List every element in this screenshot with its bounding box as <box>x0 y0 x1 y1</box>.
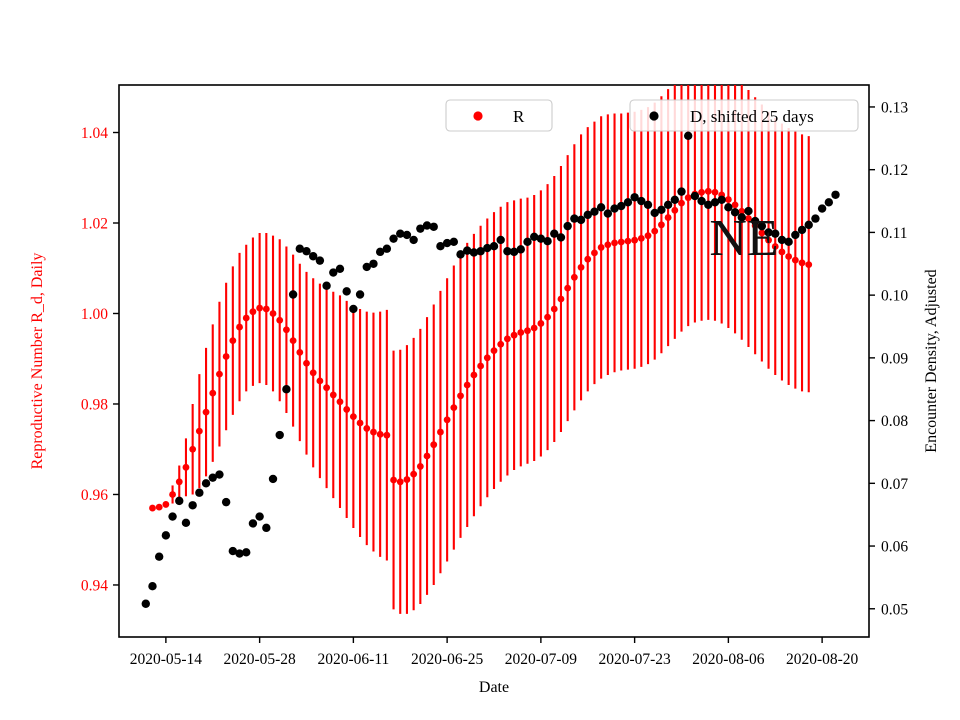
r-data-point <box>169 491 176 498</box>
r-data-point <box>337 398 344 405</box>
r-data-point <box>524 327 531 334</box>
x-tick-label: 2020-05-28 <box>223 651 296 668</box>
d-data-point <box>168 512 176 520</box>
r-data-point <box>303 360 310 367</box>
d-data-point <box>182 519 190 527</box>
d-data-point <box>577 216 585 224</box>
d-data-point <box>791 231 799 239</box>
d-data-point <box>684 132 692 140</box>
figure-canvas: 2020-05-142020-05-282020-06-112020-06-25… <box>0 0 960 720</box>
y-right-tick-label: 0.06 <box>881 539 908 556</box>
r-data-point <box>625 238 632 245</box>
d-data-point <box>517 245 525 253</box>
d-data-point <box>717 196 725 204</box>
r-data-point <box>377 431 384 438</box>
legend-r-box <box>446 100 552 131</box>
y-right-tick-label: 0.11 <box>881 225 908 242</box>
d-data-point <box>188 501 196 509</box>
r-data-point <box>290 337 297 344</box>
r-data-point <box>484 354 491 361</box>
r-data-point <box>397 478 404 485</box>
d-data-point <box>664 201 672 209</box>
r-data-point <box>511 332 518 339</box>
d-data-point <box>255 512 263 520</box>
r-data-point <box>209 390 216 397</box>
r-data-point <box>183 464 190 471</box>
r-data-point <box>189 446 196 453</box>
r-data-point <box>591 249 598 256</box>
r-data-point <box>698 189 705 196</box>
d-data-point <box>677 187 685 195</box>
d-data-point <box>805 221 813 229</box>
y-right-tick-label: 0.05 <box>881 601 908 618</box>
r-data-point <box>658 221 665 228</box>
y-right-tick-label: 0.12 <box>881 162 908 179</box>
y-axis-left-title: Reproductive Number R_d, Daily <box>29 253 46 470</box>
d-data-point <box>597 203 605 211</box>
r-data-point <box>732 202 739 209</box>
r-data-point <box>504 335 511 342</box>
legend-r-label: R <box>513 107 525 126</box>
d-data-point <box>403 231 411 239</box>
r-data-point <box>404 476 411 483</box>
d-data-point <box>175 497 183 505</box>
d-data-point <box>215 470 223 478</box>
r-data-point <box>578 264 585 271</box>
r-data-point <box>678 200 685 207</box>
d-data-point <box>691 192 699 200</box>
r-data-point <box>424 453 431 460</box>
d-data-point <box>262 524 270 532</box>
d-data-point <box>148 582 156 590</box>
r-data-point <box>558 296 565 303</box>
d-data-point <box>563 222 571 230</box>
chart-svg: 2020-05-142020-05-282020-06-112020-06-25… <box>0 0 960 720</box>
x-tick-label: 2020-05-14 <box>130 651 203 668</box>
r-data-point <box>544 314 551 321</box>
r-data-point <box>156 504 163 511</box>
y-left-tick-label: 0.94 <box>81 577 108 594</box>
d-data-point <box>242 548 250 556</box>
r-data-point <box>176 478 183 485</box>
d-data-point <box>496 236 504 244</box>
d-data-point <box>142 600 150 608</box>
d-data-point <box>825 198 833 206</box>
r-data-point <box>216 371 223 378</box>
r-data-point <box>517 329 524 336</box>
d-data-point <box>356 290 364 298</box>
r-data-point <box>196 428 203 435</box>
d-data-point <box>811 214 819 222</box>
r-data-point <box>390 477 397 484</box>
d-data-point <box>349 305 357 313</box>
d-data-point <box>195 489 203 497</box>
d-data-point <box>389 234 397 242</box>
r-data-point <box>250 308 257 315</box>
r-data-point <box>149 505 156 512</box>
legend-d-label: D, shifted 25 days <box>690 107 814 126</box>
d-data-point <box>644 201 652 209</box>
r-data-point <box>430 441 437 448</box>
r-data-point <box>410 471 417 478</box>
d-data-point <box>831 191 839 199</box>
r-data-point <box>350 413 357 420</box>
d-data-point <box>276 431 284 439</box>
d-data-point <box>409 236 417 244</box>
y-left-tick-label: 0.96 <box>81 487 108 504</box>
r-data-point <box>370 429 377 436</box>
r-data-point <box>223 353 230 360</box>
r-data-point <box>343 406 350 413</box>
d-data-point <box>249 519 257 527</box>
d-data-point <box>624 198 632 206</box>
r-data-point <box>785 253 792 260</box>
r-data-point <box>477 363 484 370</box>
r-data-point <box>779 249 786 256</box>
x-tick-label: 2020-07-23 <box>598 651 671 668</box>
r-data-point <box>471 372 478 379</box>
r-data-point <box>725 196 732 203</box>
d-data-point <box>543 237 551 245</box>
d-data-point <box>604 209 612 217</box>
r-data-point <box>283 326 290 333</box>
r-data-point <box>584 256 591 263</box>
d-data-point <box>430 223 438 231</box>
d-data-point <box>222 498 230 506</box>
r-data-point <box>383 432 390 439</box>
y-left-tick-label: 1.04 <box>81 125 108 142</box>
r-data-point <box>491 347 498 354</box>
r-data-point <box>229 337 236 344</box>
y-right-tick-label: 0.09 <box>881 350 908 367</box>
r-data-point <box>363 425 370 432</box>
d-data-point <box>818 204 826 212</box>
r-data-point <box>330 392 337 399</box>
r-data-point <box>604 241 611 248</box>
d-data-point <box>336 265 344 273</box>
legend-r-marker-icon <box>473 111 482 120</box>
d-data-point <box>302 247 310 255</box>
x-tick-label: 2020-07-09 <box>505 651 578 668</box>
d-data-point <box>322 282 330 290</box>
x-axis-title: Date <box>479 679 509 696</box>
legend-d-marker-icon <box>649 111 658 120</box>
r-data-point <box>551 306 558 313</box>
r-data-point <box>631 237 638 244</box>
d-data-point <box>523 238 531 246</box>
r-data-point <box>323 384 330 391</box>
y-right-tick-label: 0.07 <box>881 476 908 493</box>
r-data-point <box>256 305 263 312</box>
r-data-point <box>805 261 812 268</box>
r-data-point <box>270 310 277 317</box>
d-data-point <box>450 238 458 246</box>
r-data-point <box>276 317 283 324</box>
r-data-point <box>310 369 317 376</box>
r-data-point <box>464 382 471 389</box>
d-data-point <box>289 290 297 298</box>
r-data-point <box>685 194 692 201</box>
d-data-point <box>671 196 679 204</box>
d-data-point <box>784 238 792 246</box>
r-data-point <box>665 214 672 221</box>
r-data-point <box>497 341 504 348</box>
r-data-point <box>263 306 270 313</box>
d-data-point <box>202 479 210 487</box>
y-axis-right-title: Encounter Density, Adjusted <box>923 269 940 452</box>
d-data-point <box>316 256 324 264</box>
d-data-point <box>798 226 806 234</box>
d-data-point <box>557 233 565 241</box>
d-data-point <box>342 287 350 295</box>
r-data-point <box>417 463 424 470</box>
y-right-tick-label: 0.08 <box>881 413 908 430</box>
r-data-point <box>799 259 806 266</box>
d-data-point <box>162 531 170 539</box>
legend-r[interactable]: R <box>446 100 552 131</box>
r-data-point <box>162 501 169 508</box>
r-data-point <box>618 239 625 246</box>
d-data-point <box>657 206 665 214</box>
y-left-tick-label: 1.00 <box>81 306 108 323</box>
r-data-point <box>437 429 444 436</box>
x-tick-label: 2020-08-06 <box>692 651 765 668</box>
legend-d[interactable]: D, shifted 25 days <box>630 100 858 131</box>
r-data-point <box>712 189 719 196</box>
r-data-point <box>450 404 457 411</box>
plot-annotation-ne: NE <box>709 210 778 267</box>
r-data-point <box>531 325 538 332</box>
r-data-point <box>671 207 678 214</box>
d-data-point <box>269 475 277 483</box>
r-data-point <box>611 240 618 247</box>
r-data-point <box>457 392 464 399</box>
r-data-point <box>316 378 323 385</box>
r-data-point <box>564 285 571 292</box>
d-data-point <box>383 245 391 253</box>
r-data-point <box>444 416 451 423</box>
x-tick-label: 2020-06-11 <box>318 651 390 668</box>
r-data-point <box>792 257 799 264</box>
y-left-tick-label: 1.02 <box>81 216 108 233</box>
r-data-point <box>571 274 578 281</box>
r-data-point <box>243 315 250 322</box>
r-data-point <box>537 320 544 327</box>
y-right-tick-label: 0.13 <box>881 99 908 116</box>
r-data-point <box>705 188 712 195</box>
x-tick-label: 2020-06-25 <box>411 651 484 668</box>
r-data-point <box>645 232 652 239</box>
y-right-tick-label: 0.10 <box>881 288 908 305</box>
d-data-point <box>155 553 163 561</box>
d-data-point <box>282 385 290 393</box>
r-data-point <box>296 349 303 356</box>
y-left-tick-label: 0.98 <box>81 396 108 413</box>
r-data-point <box>598 244 605 251</box>
r-data-point <box>357 420 364 427</box>
r-data-point <box>651 228 658 235</box>
r-data-point <box>638 235 645 242</box>
x-tick-label: 2020-08-20 <box>786 651 859 668</box>
d-data-point <box>490 242 498 250</box>
d-data-point <box>369 260 377 268</box>
r-data-point <box>236 324 243 331</box>
r-data-point <box>203 409 210 416</box>
